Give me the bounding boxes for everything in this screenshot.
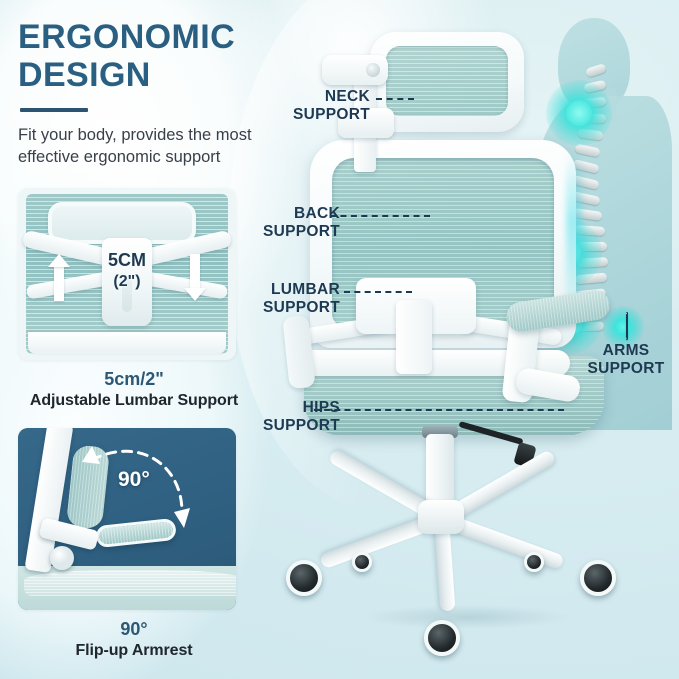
leader-line-back-support [330,215,430,217]
page-subtitle: Fit your body, provides the most effecti… [18,124,270,168]
armrest-seat-edge [18,566,236,610]
leader-line-arms-support [626,312,628,340]
leader-line-lumbar-support [344,291,412,293]
lumbar-support-photo: 5CM (2") [18,188,236,360]
callout-lumbar-support-line1: LUMBAR [271,281,340,298]
lumbar-caption-secondary: Adjustable Lumbar Support [18,392,250,410]
callout-arms-support-line1: ARMS [603,342,650,359]
callout-back-support-line2: SUPPORT [254,223,340,241]
lumbar-travel-inch: (2") [108,271,146,292]
arrow-up-icon [48,254,70,301]
infographic-canvas: ERGONOMIC DESIGN Fit your body, provides… [0,0,679,679]
caster-wheel [580,560,616,596]
callout-hips-support-line1: HIPS [303,399,340,416]
callout-neck-support-line1: NECK [325,88,370,105]
callout-hips-support-line2: SUPPORT [252,417,340,435]
callout-lumbar-support: LUMBAR SUPPORT [248,281,340,316]
callout-neck-support: NECK SUPPORT [288,88,370,123]
headrest-mesh [386,46,508,116]
chair-lumbar-stem [396,300,432,374]
lumbar-travel-annotation: 5CM (2") [108,250,146,292]
callout-arms-support: ARMS SUPPORT [578,342,674,377]
feature-card-adjustable-lumbar-support: 5CM (2") 5cm/2" Adjustable Lumbar Suppor… [18,188,250,410]
callout-back-support-line1: BACK [294,205,340,222]
caster-wheel [424,620,460,656]
title-divider [20,108,88,112]
caster-wheel [352,552,372,572]
rotation-arc-icon [78,438,218,548]
lumbar-caption-primary: 5cm/2" [18,369,250,390]
callout-neck-support-line2: SUPPORT [288,106,370,124]
arrow-down-icon [184,254,206,301]
caster-wheel [286,560,322,596]
armrest-caption-primary: 90° [18,619,250,640]
caster-wheel [524,552,544,572]
headrest-hinge [322,55,388,85]
glow-marker-neck [546,80,612,146]
leader-line-hips-support [314,409,564,411]
armrest-caption-secondary: Flip-up Armrest [18,642,250,660]
lumbar-travel-cm: 5CM [108,250,146,271]
callout-back-support: BACK SUPPORT [254,205,340,240]
callout-lumbar-support-line2: SUPPORT [248,299,340,317]
flip-up-armrest-photo: 90° [18,428,236,610]
armrest-angle-annotation: 90° [118,468,150,492]
leader-line-neck-support [376,98,414,100]
lumbar-base-rail [28,332,226,354]
callout-arms-support-line2: SUPPORT [578,360,674,378]
floor-shadow [322,600,612,634]
armrest-pivot-knob [50,546,74,570]
feature-card-flip-up-armrest: 90° 90° Flip-up Armrest [18,428,250,660]
callout-hips-support: HIPS SUPPORT [252,399,340,434]
base-hub [418,500,464,534]
